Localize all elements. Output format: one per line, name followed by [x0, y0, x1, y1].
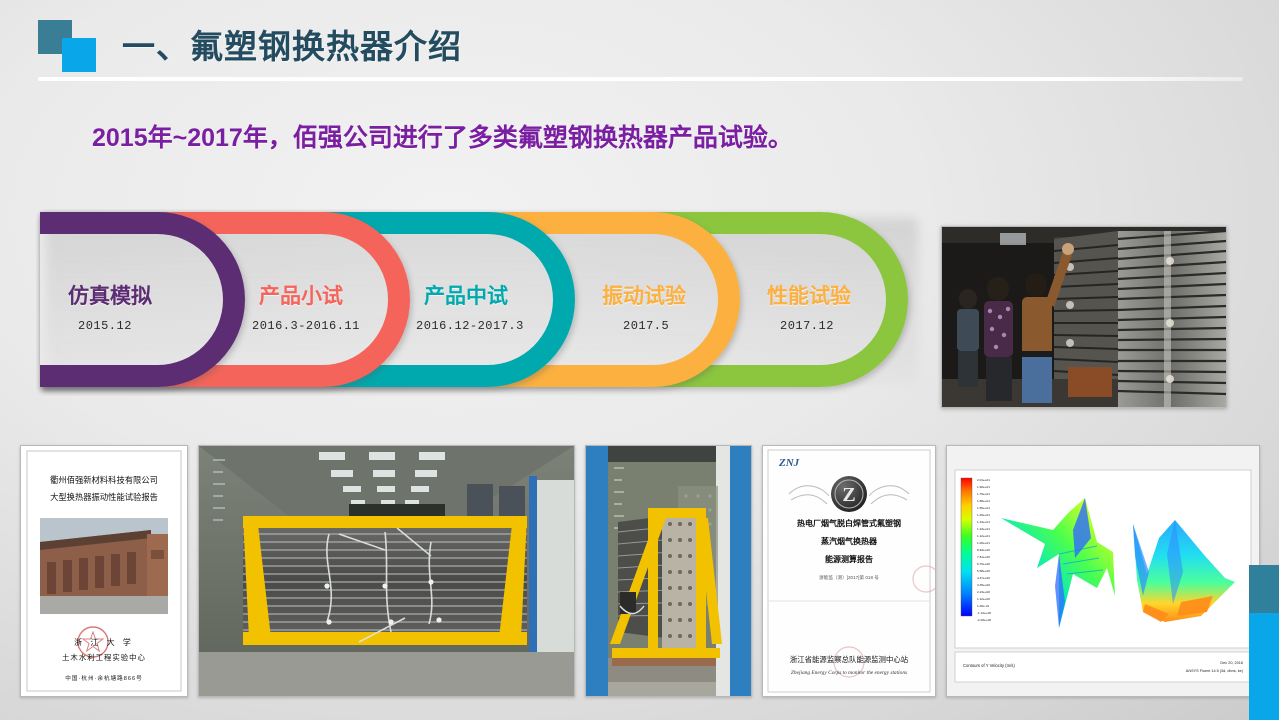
svg-text:1.12e+00: 1.12e+00	[977, 597, 990, 601]
svg-text:1.00e+01: 1.00e+01	[977, 541, 990, 545]
test-rig-art	[199, 446, 574, 696]
slide-header: 一、氟塑钢换热器介绍	[0, 0, 1279, 90]
energy-measurement-report-cover: ZNJ Z 热电厂烟气脱白焊管式氟塑钢 蒸汽烟气换热器 能源测算报告 浙能监（测…	[762, 445, 936, 697]
flow-stage-1-date: 2015.12	[78, 319, 132, 333]
energy-line-1: 热电厂烟气脱白焊管式氟塑钢	[797, 518, 901, 528]
svg-text:1.34e+01: 1.34e+01	[977, 520, 990, 524]
energy-line-3: 能源测算报告	[825, 554, 873, 564]
svg-text:-1.12e+00: -1.12e+00	[977, 611, 991, 615]
svg-text:8.93e+00: 8.93e+00	[977, 548, 990, 552]
energy-line-2: 蒸汽烟气换热器	[821, 536, 878, 546]
svg-text:1.68e+01: 1.68e+01	[977, 499, 990, 503]
report-footer-2: 土木水利工程实验中心	[62, 653, 146, 662]
svg-text:2.23e+00: 2.23e+00	[977, 590, 990, 594]
flow-stage-2-label: 产品小试	[259, 280, 343, 310]
report-brand: ZNJ	[778, 457, 800, 469]
flow-stage-1-label: 仿真模拟	[68, 280, 152, 310]
cfd-caption-date: Dec 20, 2016	[1220, 661, 1243, 665]
svg-text:3.35e+00: 3.35e+00	[977, 583, 990, 587]
site-inspection-photo	[941, 226, 1227, 408]
svg-text:-2.00e+00: -2.00e+00	[977, 618, 991, 622]
svg-text:1.79e+01: 1.79e+01	[977, 492, 990, 496]
flow-stage-2-date: 2016.3-2016.11	[252, 319, 360, 333]
svg-text:1.56e+01: 1.56e+01	[977, 506, 990, 510]
subtitle-text: 2015年~2017年，佰强公司进行了多类氟塑钢换热器产品试验。	[92, 118, 793, 154]
report-line-2: 大型换热器振动性能试验报告	[50, 492, 158, 502]
edge-accent-top	[1249, 565, 1279, 613]
cfd-velocity-contour-plot: 2.01e+011.90e+01 1.79e+011.68e+01 1.56e+…	[946, 445, 1260, 697]
report-emblem: Z	[842, 484, 855, 506]
header-square-light-icon	[62, 38, 96, 72]
site-inspection-photo-art	[942, 227, 1226, 407]
page-title: 一、氟塑钢换热器介绍	[122, 20, 462, 68]
svg-text:1.45e+01: 1.45e+01	[977, 513, 990, 517]
gallery-strip: 衢州佰强新材料科技有限公司 大型换热器振动性能试验报告 浙 江 大	[0, 445, 1279, 695]
svg-text:4.47e+00: 4.47e+00	[977, 576, 990, 580]
vibration-chamber-art	[586, 446, 751, 696]
svg-text:1.90e+01: 1.90e+01	[977, 485, 990, 489]
flow-stage-3-label: 产品中试	[424, 280, 508, 310]
slide-root: 一、氟塑钢换热器介绍 2015年~2017年，佰强公司进行了多类氟塑钢换热器产品…	[0, 0, 1279, 720]
svg-text:1.00e-01: 1.00e-01	[977, 604, 989, 608]
cfd-caption-solver: ANSYS Fluent 14.5 (3d, dbns, ke)	[1186, 669, 1244, 673]
vibration-report-art: 衢州佰强新材料科技有限公司 大型换热器振动性能试验报告 浙 江 大	[21, 446, 187, 696]
svg-text:7.81e+00: 7.81e+00	[977, 555, 990, 559]
flow-stage-5-label: 性能试验	[767, 280, 851, 310]
report-footer-1: 浙 江 大 学	[74, 637, 134, 647]
edge-accent-bottom	[1249, 613, 1279, 720]
flow-stage-4-label: 振动试验	[602, 280, 686, 310]
cfd-caption-left: Contours of Y Velocity (m/s)	[963, 663, 1015, 668]
report-line-1: 衢州佰强新材料科技有限公司	[50, 475, 158, 485]
title-divider	[38, 77, 1243, 81]
flow-stage-3-date: 2016.12-2017.3	[416, 319, 524, 333]
report-footer-3: 中国·杭州·余杭塘路866号	[65, 674, 142, 682]
energy-doc-no: 浙能监（测）[2017]第 018 号	[819, 574, 879, 581]
heat-exchanger-test-rig-photo	[198, 445, 575, 697]
svg-text:5.58e+00: 5.58e+00	[977, 569, 990, 573]
svg-text:1.12e+01: 1.12e+01	[977, 534, 990, 538]
flow-stage-4-date: 2017.5	[623, 319, 669, 333]
vibration-test-report-cover: 衢州佰强新材料科技有限公司 大型换热器振动性能试验报告 浙 江 大	[20, 445, 188, 697]
flow-stage-5-date: 2017.12	[780, 319, 834, 333]
energy-report-art: ZNJ Z 热电厂烟气脱白焊管式氟塑钢 蒸汽烟气换热器 能源测算报告 浙能监（测…	[763, 446, 935, 696]
process-flow-diagram: 仿真模拟 2015.12 产品小试 2016.3-2016.11 产品中试 20…	[40, 212, 920, 387]
vibration-chamber-photo	[585, 445, 752, 697]
svg-text:2.01e+01: 2.01e+01	[977, 478, 990, 482]
energy-footer-2: Zhejiang Energy Corps to monitor the ene…	[791, 670, 907, 676]
svg-text:1.23e+01: 1.23e+01	[977, 527, 990, 531]
cfd-plot-art: 2.01e+011.90e+01 1.79e+011.68e+01 1.56e+…	[947, 446, 1259, 696]
svg-text:6.70e+00: 6.70e+00	[977, 562, 990, 566]
energy-footer-1: 浙江省能源监察总队能源监测中心站	[790, 655, 909, 664]
